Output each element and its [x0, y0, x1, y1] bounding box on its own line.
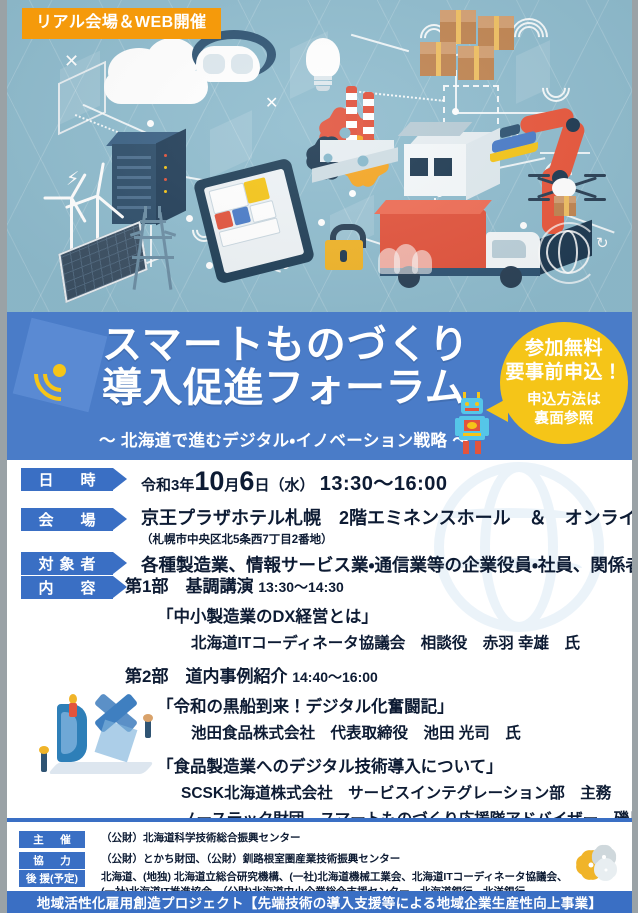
venue-name: 京王プラザホテル札幌 2階エミネンスホール ＆ オンライン — [141, 508, 632, 529]
weekday: （水） — [269, 477, 314, 494]
footer-row-cooperation: 協 力 （公財）とかち財団、（公財）釧路根室圏産業技術振興センター — [19, 852, 400, 869]
free-admission-bubble: 参加無料 要事前申込！ 申込方法は 裏面参照 — [500, 322, 628, 444]
bubble-line2: 要事前申込！ — [505, 361, 622, 384]
day-number: 6 — [239, 466, 254, 496]
day-unit: 日 — [254, 477, 269, 494]
session-speaker: 北海道ITコーディネータ協議会 相談役 赤羽 幸雄 氏 — [191, 631, 625, 653]
gear-decoration-icon — [584, 852, 618, 882]
label-support: 後 援(予定) — [19, 870, 85, 887]
datetime-value: 令和3年10月6日（水） 13:30～16:00 — [141, 468, 448, 495]
label-organizer: 主 催 — [19, 831, 85, 848]
part-time: 14:40～16:00 — [292, 669, 378, 685]
info-row-content: 内 容 — [21, 576, 113, 599]
program-part: 第2部 道内事例紹介 14:40～16:00 「令和の黒船到来！デジタル化奮闘記… — [125, 662, 625, 818]
part-time: 13:30～14:30 — [258, 579, 344, 595]
right-edge-bar — [632, 0, 638, 913]
label-target: 対象者 — [21, 552, 113, 575]
info-row-venue: 会 場 京王プラザホテル札幌 2階エミネンスホール ＆ オンライン （札幌市中央… — [21, 508, 632, 547]
bubble-line3: 申込方法は — [527, 391, 601, 410]
session-title: 「中小製造業のDX経営とは」 — [157, 603, 625, 627]
flyer-page: ✕ ✕ ✕ — [0, 0, 638, 913]
format-badge: リアル会場＆WEB開催 — [22, 8, 221, 39]
footer-row-organizer: 主 催 （公財）北海道科学技術総合振興センター — [19, 831, 301, 848]
bubble-line4: 裏面参照 — [527, 410, 601, 429]
hero-illustration: ✕ ✕ ✕ — [0, 0, 638, 312]
bubble-headline: 参加無料 要事前申込！ — [505, 337, 622, 383]
time-range: 13:30～16:00 — [320, 473, 448, 495]
footer-divider — [7, 818, 632, 822]
session-title: 「食品製造業へのデジタル技術導入について」 — [157, 753, 625, 777]
label-venue: 会 場 — [21, 508, 113, 531]
info-section: 日 時 令和3年10月6日（水） 13:30～16:00 会 場 京王プラザホテ… — [7, 462, 632, 818]
part-title: 第1部 基調講演 — [125, 577, 253, 596]
wifi-signal-icon — [27, 340, 93, 398]
session-speaker: ノーステック財団 スマートものづくり応援隊アドバイザー 磯貝 安洋 氏 — [181, 807, 625, 818]
part-heading: 第2部 道内事例紹介 14:40～16:00 — [125, 662, 625, 687]
era-year: 令和3年 — [141, 477, 194, 494]
info-row-datetime: 日 時 令和3年10月6日（水） 13:30～16:00 — [21, 468, 448, 495]
event-title-line1: スマートものづくり — [102, 324, 522, 367]
bubble-subtext: 申込方法は 裏面参照 — [527, 391, 601, 429]
label-datetime: 日 時 — [21, 468, 113, 491]
session-speaker: SCSK北海道株式会社 サービスインテグレーション部 主務 — [181, 781, 625, 803]
part-title: 第2部 道内事例紹介 — [125, 667, 287, 686]
session-title: 「令和の黒船到来！デジタル化奮闘記」 — [157, 693, 625, 717]
organizer-value: （公財）北海道科学技術総合振興センター — [101, 831, 301, 846]
program-list: 第1部 基調講演 13:30～14:30 「中小製造業のDX経営とは」 北海道I… — [125, 572, 625, 818]
part-heading: 第1部 基調講演 13:30～14:30 — [125, 572, 625, 597]
robot-mascot-icon — [455, 392, 489, 456]
month-unit: 月 — [224, 477, 239, 494]
label-cooperation: 協 力 — [19, 852, 85, 869]
bubble-line1: 参加無料 — [505, 337, 622, 360]
project-banner: 地域活性化雇用創造プロジェクト【先端技術の導入支援等による地域企業生産性向上事業… — [7, 891, 632, 913]
program-part: 第1部 基調講演 13:30～14:30 「中小製造業のDX経営とは」 北海道I… — [125, 572, 625, 653]
month-number: 10 — [194, 466, 224, 496]
venue-address: （札幌市中央区北5条西7丁目2番地） — [141, 531, 632, 547]
label-content: 内 容 — [21, 576, 113, 599]
left-edge-bar — [0, 0, 7, 913]
cooperation-value: （公財）とかち財団、（公財）釧路根室圏産業技術振興センター — [101, 852, 400, 867]
session-speaker: 池田食品株式会社 代表取締役 池田 光司 氏 — [191, 721, 625, 743]
